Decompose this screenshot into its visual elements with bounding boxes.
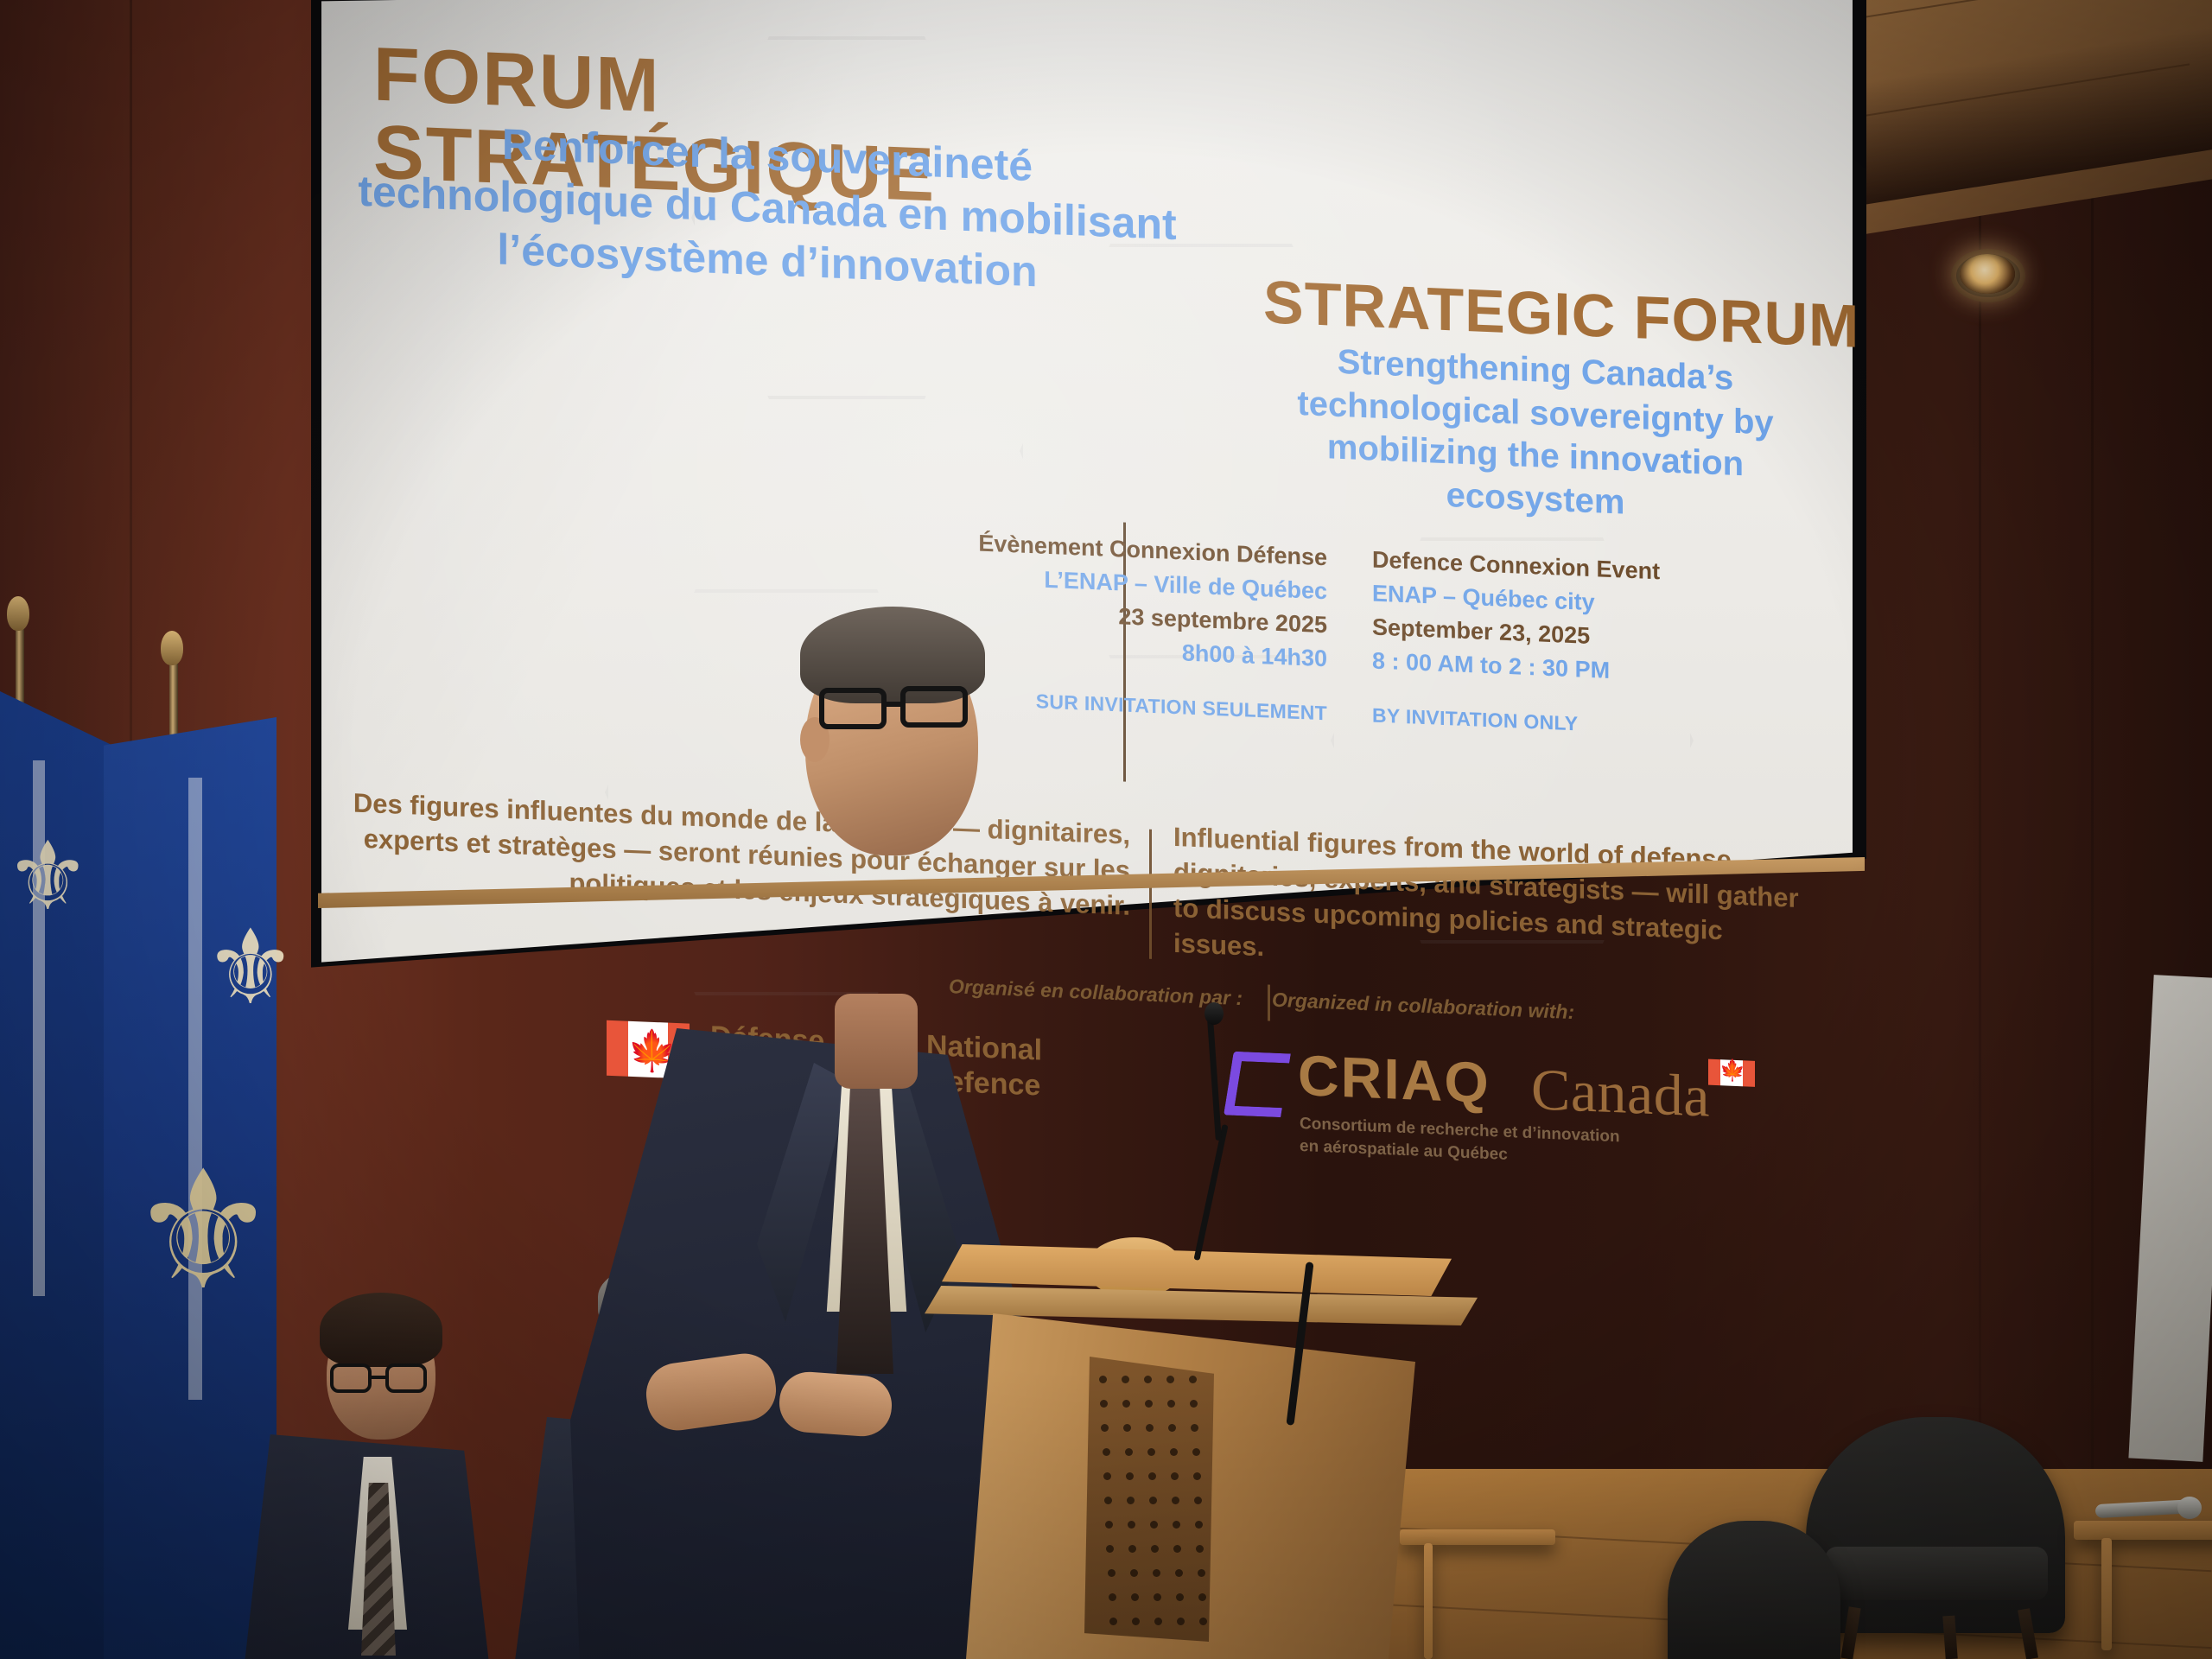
- podium-dot: [1175, 1569, 1183, 1577]
- event-info-row: Évènement Connexion Défense L’ENAP – Vil…: [978, 527, 1808, 748]
- side-table: [2074, 1521, 2212, 1540]
- podium-dot: [1126, 1472, 1134, 1480]
- podium-dot: [1131, 1593, 1139, 1601]
- criaq-wordmark: CRIAQ: [1298, 1042, 1491, 1116]
- podium-dot: [1122, 1376, 1129, 1383]
- podium-dot: [1194, 1497, 1202, 1504]
- podium-dot: [1189, 1376, 1197, 1383]
- side-table-left-leg: [1424, 1543, 1433, 1659]
- armchair-secondary: [1668, 1521, 1840, 1659]
- podium-dot: [1132, 1618, 1140, 1625]
- speaker-hand-right: [778, 1370, 894, 1439]
- podium-dot: [1130, 1569, 1138, 1577]
- podium-dot: [1109, 1593, 1116, 1601]
- podium-dot: [1148, 1472, 1156, 1480]
- armchair: [1806, 1417, 2065, 1633]
- podium-dot: [1198, 1569, 1205, 1577]
- podium-dot: [1127, 1497, 1135, 1504]
- flag-finial: [7, 596, 29, 631]
- event-invitation-french: SUR INVITATION SEULEMENT: [978, 684, 1327, 728]
- speaker-glasses-icon-left: [819, 688, 887, 729]
- wall-seam: [2091, 0, 2094, 1659]
- attendee-left-hair: [320, 1293, 442, 1367]
- podium-dot: [1108, 1569, 1116, 1577]
- slide-subtitle-french: Renforcer la souveraineté technologique …: [353, 111, 1182, 304]
- event-info-french: Évènement Connexion Défense L’ENAP – Vil…: [978, 527, 1350, 729]
- microphone-head: [1205, 1002, 1224, 1025]
- podium-dot: [1177, 1618, 1185, 1625]
- slide-paragraph-english: Influential figures from the world of de…: [1151, 819, 1808, 988]
- podium-dot: [1103, 1448, 1110, 1456]
- chair-seat: [1825, 1547, 2048, 1600]
- speaker-glasses-icon-right: [900, 686, 968, 728]
- criaq-logo-icon: [1224, 1052, 1291, 1117]
- podium-dot: [1172, 1497, 1179, 1504]
- speaker-neck: [835, 994, 918, 1089]
- canada-wordmark: Canada: [1531, 1055, 1710, 1131]
- podium-dot: [1103, 1472, 1111, 1480]
- flag-finial-secondary: [161, 631, 183, 665]
- podium-dot: [1154, 1593, 1161, 1601]
- fleur-de-lis-icon-secondary: ⚜: [204, 916, 297, 1020]
- ceiling-downlight: [1960, 254, 2015, 294]
- podium-dot: [1125, 1448, 1133, 1456]
- podium-dot: [1099, 1376, 1107, 1383]
- side-table-left: [1400, 1529, 1555, 1545]
- side-table-leg: [2101, 1538, 2112, 1650]
- canada-wordmark-leaf-icon: 🍁: [1719, 1058, 1745, 1084]
- podium-dot: [1154, 1618, 1162, 1625]
- event-invitation-english: BY INVITATION ONLY: [1372, 701, 1721, 744]
- attendee-left-glasses-icon-right: [385, 1363, 427, 1393]
- podium-dot: [1149, 1497, 1157, 1504]
- attendee-left-glasses-bridge: [372, 1376, 387, 1379]
- slide-subtitle-english: Strengthening Canada’s technological sov…: [1233, 337, 1838, 533]
- podium-dot: [1176, 1593, 1184, 1601]
- attendee-left-glasses-icon: [330, 1363, 372, 1393]
- slide-paragraph-french: Des figures influentes du monde de la dé…: [347, 785, 1151, 960]
- fleur-de-lis-icon-large: ⚜: [130, 1149, 276, 1313]
- podium-dot: [1104, 1497, 1112, 1504]
- podium-dot: [1109, 1618, 1117, 1625]
- podium-dot: [1199, 1618, 1207, 1625]
- podium-dot: [1147, 1448, 1155, 1456]
- podium-dot: [1171, 1472, 1179, 1480]
- podium-dot: [1198, 1593, 1206, 1601]
- podium-dot: [1170, 1448, 1178, 1456]
- podium-dot: [1166, 1376, 1174, 1383]
- podium-dot: [1153, 1569, 1160, 1577]
- event-info-english: Defence Connexion Event ENAP – Québec ci…: [1350, 542, 1721, 744]
- podium-dot: [1193, 1472, 1201, 1480]
- podium-dot: [1192, 1448, 1200, 1456]
- auditorium-photo-scene: FORUM STRATÉGIQUE Renforcer la souverain…: [0, 0, 2212, 1659]
- fleur-de-lis-icon: ⚜: [5, 829, 91, 925]
- gavel-head: [2177, 1497, 2202, 1519]
- podium-dot: [1144, 1376, 1152, 1383]
- speaker-glasses-bridge: [887, 702, 902, 707]
